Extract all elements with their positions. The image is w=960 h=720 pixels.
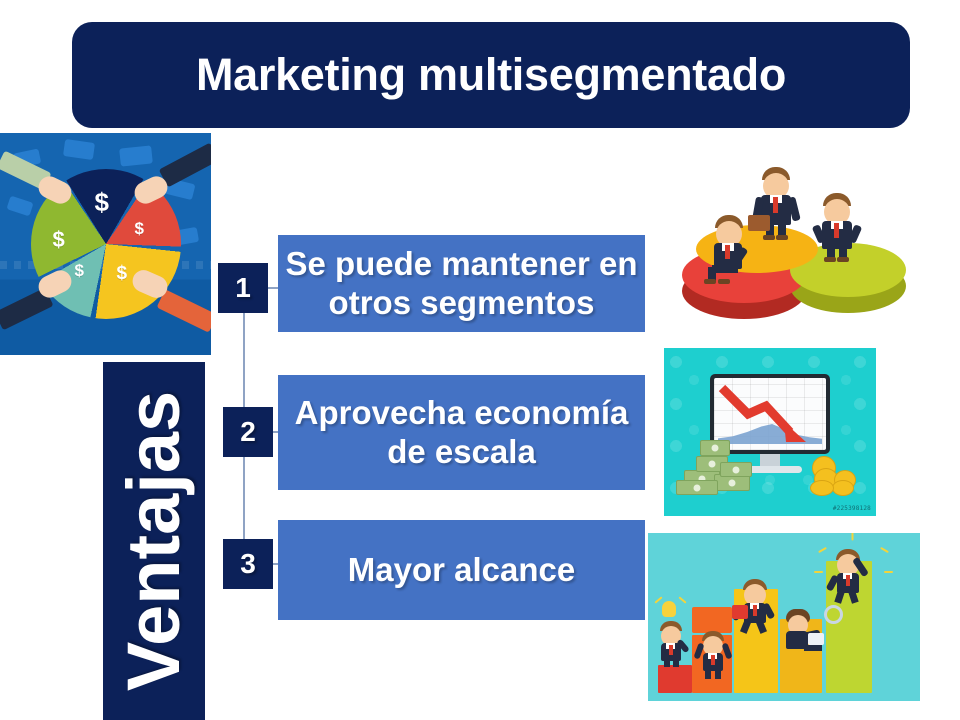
sparkle-icon	[654, 596, 662, 603]
gold-coin-icon	[810, 480, 834, 496]
magnifier-icon	[824, 605, 843, 624]
businessperson-reviewing-icon	[782, 609, 826, 651]
hands-pie-illustration: $ $ $ $ $	[0, 133, 211, 355]
advantage-badge-1[interactable]: 1	[218, 263, 268, 313]
lightbulb-icon	[662, 601, 676, 617]
dollar-sign-icon: $	[53, 227, 65, 253]
businessman-handsonhips-icon	[814, 193, 860, 261]
banknote-icon	[119, 145, 153, 166]
monitor-screen	[714, 378, 826, 450]
advantage-box-2[interactable]: Aprovecha economía de escala	[278, 375, 645, 490]
declining-chart-money-illustration: #225398128	[664, 348, 876, 516]
advantage-box-3[interactable]: Mayor alcance	[278, 520, 645, 620]
advantage-box-1[interactable]: Se puede mantener en otros segmentos	[278, 235, 645, 332]
pie3d-businessmen-illustration	[668, 155, 950, 335]
ventajas-label-bar: Ventajas	[103, 362, 205, 720]
orange-crate-icon	[692, 607, 732, 633]
businessman-sitting-icon	[706, 215, 756, 277]
dollar-sign-icon: $	[95, 187, 109, 218]
businessman-running-icon	[738, 579, 776, 631]
businessman-lifting-icon	[698, 631, 730, 675]
declining-arrow-icon	[714, 378, 826, 450]
businessman-idea-icon	[656, 621, 690, 665]
businessman-celebrating-icon	[830, 549, 872, 603]
slide-canvas: Marketing multisegmentado $ $ $ $ $	[0, 0, 960, 720]
slide-title-bar: Marketing multisegmentado	[72, 22, 910, 128]
watermark-id: #225398128	[833, 505, 871, 512]
dollar-sign-icon: $	[75, 261, 84, 281]
dollar-sign-icon: $	[135, 219, 144, 239]
advantage-badge-3[interactable]: 3	[223, 539, 273, 589]
sparkle-icon	[814, 571, 823, 573]
bar-1	[658, 665, 692, 693]
gold-coin-icon	[832, 480, 854, 496]
sparkle-icon	[880, 547, 889, 553]
advantage-badge-2[interactable]: 2	[223, 407, 273, 457]
businessman-standing-icon	[752, 167, 800, 239]
sparkle-icon	[678, 596, 686, 603]
dollar-sign-icon: $	[117, 263, 128, 285]
ventajas-label: Ventajas	[117, 391, 191, 691]
sparkle-icon	[884, 571, 893, 573]
sparkle-icon	[852, 533, 854, 541]
sparkle-icon	[818, 547, 827, 553]
bar-chart-climbers-illustration	[648, 533, 920, 701]
page-title: Marketing multisegmentado	[196, 51, 786, 98]
